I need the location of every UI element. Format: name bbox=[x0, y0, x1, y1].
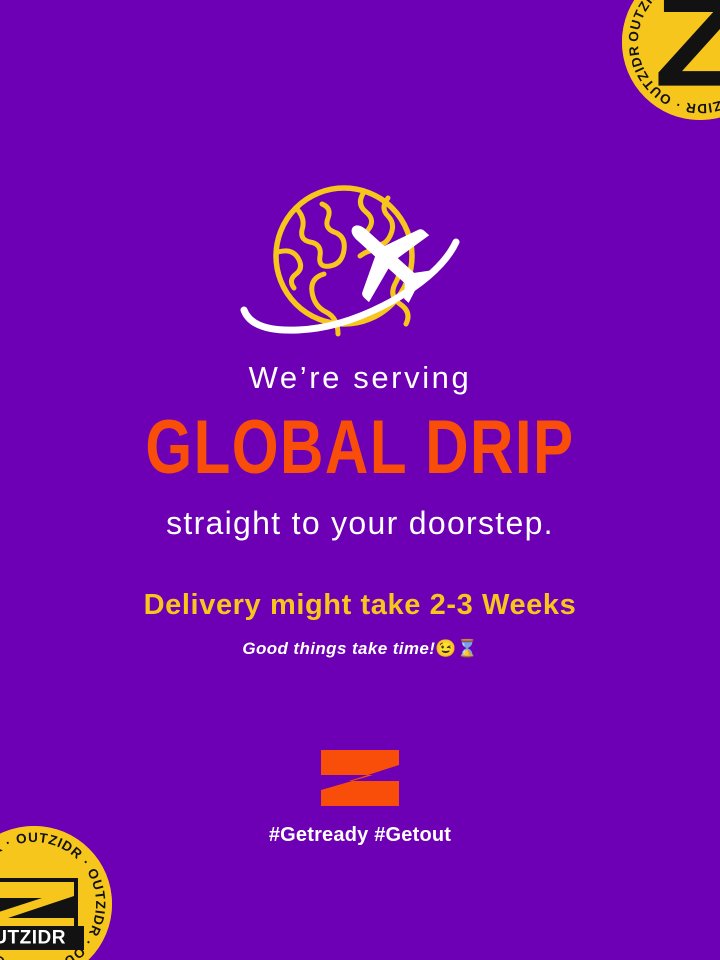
headline-kicker: We’re serving bbox=[0, 362, 720, 393]
delivery-tagline: Good things take time!😉⌛ bbox=[0, 640, 720, 657]
tagline-emoji: 😉⌛ bbox=[435, 639, 477, 658]
poster-text-block: We’re serving GLOBAL DRIP straight to yo… bbox=[0, 362, 720, 657]
outzidr-badge-top-right: OUTZIDR · OUTZIDR · OUTZIDR · OUTZIDR · … bbox=[622, 0, 720, 120]
badge-letter: Z bbox=[654, 0, 720, 113]
delivery-time-note: Delivery might take 2-3 Weeks bbox=[0, 591, 720, 620]
badge-wordmark: OUTZIDR bbox=[0, 928, 66, 949]
outzidr-z-logo-icon bbox=[319, 748, 401, 808]
globe-with-airplane-icon bbox=[232, 178, 488, 346]
badge-wordmark-plate: OUTZIDR bbox=[0, 926, 84, 950]
poster-canvas: We’re serving GLOBAL DRIP straight to yo… bbox=[0, 0, 720, 960]
headline-subtitle: straight to your doorstep. bbox=[0, 507, 720, 539]
delivery-tagline-text: Good things take time! bbox=[242, 639, 435, 658]
headline-main: GLOBAL DRIP bbox=[11, 411, 709, 487]
outzidr-badge-bottom-left: OUTZIDR · OUTZIDR · OUTZIDR · OUTZIDR · … bbox=[0, 826, 112, 960]
